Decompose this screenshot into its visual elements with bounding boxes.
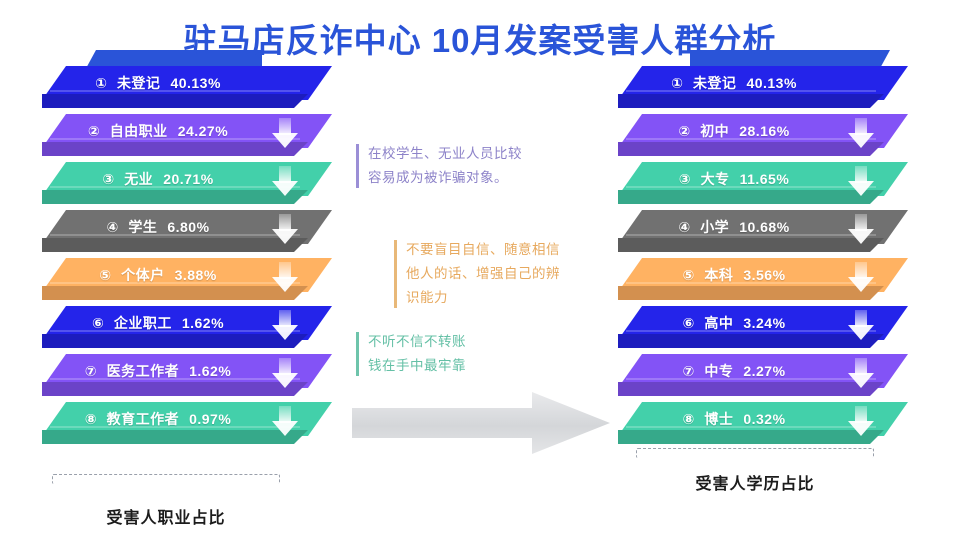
education-bracket — [636, 448, 874, 458]
funnel-bar-label: ⑥企业职工1.62% — [42, 306, 274, 340]
funnel-bar-value: 3.88% — [175, 267, 217, 283]
funnel-bar-value: 2.27% — [743, 363, 785, 379]
funnel-bar-name: 本科 — [704, 265, 733, 285]
funnel-bar-name: 博士 — [704, 409, 733, 429]
arrow-head — [848, 181, 874, 196]
funnel-bar-label: ①未登记40.13% — [618, 66, 850, 100]
note-accent-bar — [394, 240, 397, 308]
funnel-bar-value: 0.97% — [189, 411, 231, 427]
funnel-bar-row: ⑦中专2.27% — [618, 354, 918, 402]
arrow-head — [848, 373, 874, 388]
arrow-down-icon — [846, 260, 876, 294]
arrow-down-icon — [270, 212, 300, 246]
funnel-bar-value: 40.13% — [170, 75, 220, 91]
arrow-shaft — [855, 166, 867, 183]
arrow-down-icon — [270, 356, 300, 390]
funnel-bar-rank: ① — [671, 75, 683, 92]
arrow-shaft — [279, 118, 291, 135]
note-text: 不听不信不转账 钱在手中最牢靠 — [368, 330, 546, 378]
arrow-shaft — [855, 118, 867, 135]
education-caption: 受害人学历占比 — [636, 470, 874, 494]
arrow-shaft — [855, 358, 867, 375]
funnel-bar-row: ⑥高中3.24% — [618, 306, 918, 354]
funnel-bar-name: 自由职业 — [110, 121, 168, 141]
funnel-bar-row: ⑧博士0.32% — [618, 402, 918, 450]
arrow-down-icon — [846, 164, 876, 198]
funnel-bar-label: ④小学10.68% — [618, 210, 850, 244]
arrow-down-icon — [846, 308, 876, 342]
funnel-bar-rank: ⑧ — [682, 411, 694, 428]
funnel-bar-name: 中专 — [704, 361, 733, 381]
arrow-shaft — [279, 214, 291, 231]
arrow-head — [848, 325, 874, 340]
occupation-bracket — [52, 474, 280, 484]
arrow-head — [272, 325, 298, 340]
flow-arrow-shape — [352, 392, 610, 454]
funnel-bar-value: 40.13% — [746, 75, 796, 91]
note-no-transfer-slogan: 不听不信不转账 钱在手中最牢靠 — [356, 330, 546, 378]
funnel-bar-name: 未登记 — [117, 73, 161, 93]
funnel-bar-value: 11.65% — [740, 171, 790, 187]
arrow-shaft — [279, 166, 291, 183]
funnel-bar-name: 初中 — [700, 121, 729, 141]
title-band: 驻马店反诈中心 10月发案受害人群分析 — [0, 6, 960, 68]
funnel-bar-label: ⑤个体户3.88% — [42, 258, 274, 292]
arrow-shaft — [855, 406, 867, 423]
arrow-head — [272, 277, 298, 292]
note-text: 不要盲目自信、随意相信 他人的话、增强自己的辨 识能力 — [406, 238, 600, 310]
funnel-bar-name: 高中 — [704, 313, 733, 333]
funnel-bar-row: ⑦医务工作者1.62% — [42, 354, 342, 402]
arrow-shaft — [279, 406, 291, 423]
funnel-bar-row: ①未登记40.13% — [618, 66, 918, 114]
arrow-head — [272, 421, 298, 436]
funnel-bar-label: ①未登记40.13% — [42, 66, 274, 100]
funnel-bar-label: ⑧教育工作者0.97% — [42, 402, 274, 436]
arrow-down-icon — [270, 260, 300, 294]
funnel-bar-rank: ① — [95, 75, 107, 92]
note-text: 在校学生、无业人员比较 容易成为被诈骗对象。 — [368, 142, 556, 190]
funnel-bar-rank: ⑦ — [85, 363, 97, 380]
arrow-shaft — [279, 358, 291, 375]
funnel-bar-row: ②自由职业24.27% — [42, 114, 342, 162]
page-title: 驻马店反诈中心 10月发案受害人群分析 — [0, 14, 960, 62]
arrow-down-icon — [846, 116, 876, 150]
funnel-bar-rank: ⑧ — [85, 411, 97, 428]
funnel-bar-name: 大专 — [701, 169, 730, 189]
funnel-bar-rank: ② — [678, 123, 690, 140]
funnel-bar-rank: ⑤ — [682, 267, 694, 284]
funnel-bar-label: ③无业20.71% — [42, 162, 274, 196]
funnel-bar-value: 0.32% — [743, 411, 785, 427]
funnel-bar-row: ④学生6.80% — [42, 210, 342, 258]
funnel-bar-row: ③无业20.71% — [42, 162, 342, 210]
funnel-bar-label: ④学生6.80% — [42, 210, 274, 244]
arrow-head — [272, 181, 298, 196]
arrow-shaft — [855, 214, 867, 231]
funnel-bar-value: 6.80% — [167, 219, 209, 235]
arrow-down-icon — [846, 356, 876, 390]
funnel-bar-name: 学生 — [128, 217, 157, 237]
funnel-bar-name: 无业 — [124, 169, 153, 189]
arrow-head — [848, 277, 874, 292]
funnel-bar-label: ⑤本科3.56% — [618, 258, 850, 292]
arrow-head — [848, 421, 874, 436]
funnel-bar-name: 小学 — [700, 217, 729, 237]
occupation-funnel-column: ①未登记40.13%②自由职业24.27%③无业20.71%④学生6.80%⑤个… — [42, 66, 342, 466]
funnel-bar-rank: ⑥ — [682, 315, 694, 332]
funnel-bar-name: 教育工作者 — [107, 409, 180, 429]
funnel-bar-row: ⑧教育工作者0.97% — [42, 402, 342, 450]
arrow-down-icon — [270, 404, 300, 438]
arrow-down-icon — [846, 212, 876, 246]
funnel-bar-row: ②初中28.16% — [618, 114, 918, 162]
funnel-bar-value: 28.16% — [739, 123, 789, 139]
arrow-shaft — [279, 262, 291, 279]
funnel-bar-rank: ③ — [679, 171, 691, 188]
arrow-head — [848, 229, 874, 244]
flow-arrow-right-icon — [352, 392, 610, 454]
funnel-bar-rank: ④ — [106, 219, 118, 236]
note-students-unemployed: 在校学生、无业人员比较 容易成为被诈骗对象。 — [356, 142, 556, 190]
occupation-caption: 受害人职业占比 — [52, 504, 280, 528]
funnel-bar-row: ③大专11.65% — [618, 162, 918, 210]
funnel-bar-rank: ② — [88, 123, 100, 140]
funnel-bar-rank: ③ — [102, 171, 114, 188]
funnel-bar-name: 未登记 — [693, 73, 737, 93]
arrow-shaft — [855, 310, 867, 327]
funnel-bar-value: 10.68% — [739, 219, 789, 235]
funnel-bar-row: ④小学10.68% — [618, 210, 918, 258]
funnel-bar-value: 3.24% — [743, 315, 785, 331]
arrow-head — [272, 373, 298, 388]
funnel-bar-name: 医务工作者 — [107, 361, 180, 381]
funnel-bar-label: ⑦中专2.27% — [618, 354, 850, 388]
arrow-head — [272, 229, 298, 244]
funnel-bar-value: 1.62% — [182, 315, 224, 331]
funnel-bar-label: ②初中28.16% — [618, 114, 850, 148]
funnel-bar-row: ⑥企业职工1.62% — [42, 306, 342, 354]
arrow-down-icon — [270, 116, 300, 150]
funnel-bar-rank: ⑥ — [92, 315, 104, 332]
funnel-bar-rank: ⑤ — [99, 267, 111, 284]
note-accent-bar — [356, 144, 359, 188]
funnel-bar-label: ⑦医务工作者1.62% — [42, 354, 274, 388]
arrow-down-icon — [270, 308, 300, 342]
funnel-bar-row: ⑤个体户3.88% — [42, 258, 342, 306]
funnel-bar-value: 20.71% — [163, 171, 213, 187]
arrow-shaft — [855, 262, 867, 279]
funnel-bar-label: ⑧博士0.32% — [618, 402, 850, 436]
funnel-bar-row: ⑤本科3.56% — [618, 258, 918, 306]
note-do-not-trust-blindly: 不要盲目自信、随意相信 他人的话、增强自己的辨 识能力 — [394, 238, 600, 310]
funnel-bar-label: ②自由职业24.27% — [42, 114, 274, 148]
funnel-bar-name: 个体户 — [121, 265, 165, 285]
arrow-head — [272, 133, 298, 148]
funnel-bar-value: 24.27% — [178, 123, 228, 139]
infographic-canvas: 驻马店反诈中心 10月发案受害人群分析 ①未登记40.13%②自由职业24.27… — [0, 0, 960, 540]
funnel-bar-label: ③大专11.65% — [618, 162, 850, 196]
arrow-down-icon — [846, 404, 876, 438]
funnel-bar-row: ①未登记40.13% — [42, 66, 342, 114]
arrow-head — [848, 133, 874, 148]
funnel-bar-value: 3.56% — [743, 267, 785, 283]
funnel-bar-rank: ⑦ — [682, 363, 694, 380]
education-funnel-column: ①未登记40.13%②初中28.16%③大专11.65%④小学10.68%⑤本科… — [618, 66, 918, 466]
arrow-shaft — [279, 310, 291, 327]
funnel-bar-label: ⑥高中3.24% — [618, 306, 850, 340]
arrow-down-icon — [270, 164, 300, 198]
funnel-bar-value: 1.62% — [189, 363, 231, 379]
funnel-bar-rank: ④ — [678, 219, 690, 236]
funnel-bar-name: 企业职工 — [114, 313, 172, 333]
note-accent-bar — [356, 332, 359, 376]
